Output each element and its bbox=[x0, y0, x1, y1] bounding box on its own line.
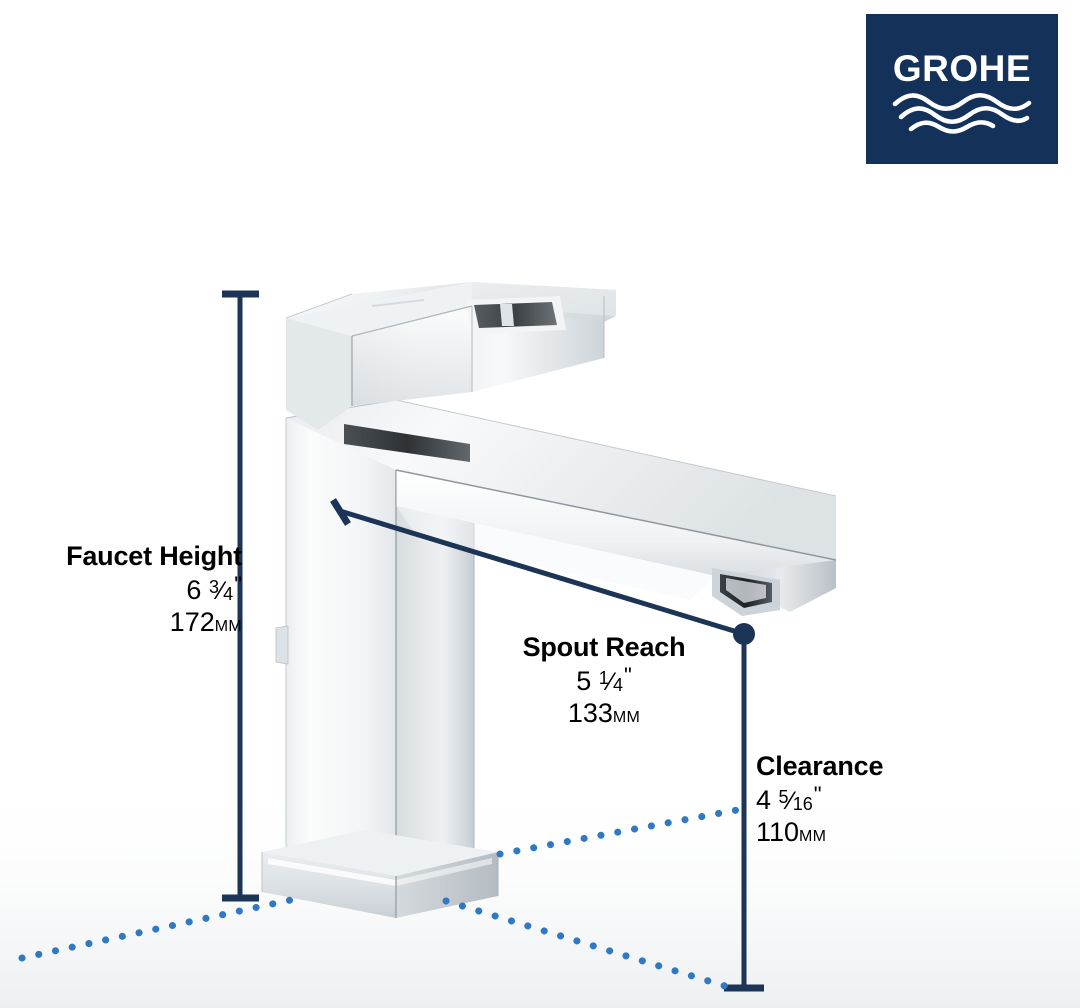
spout-clearance-junction-dot bbox=[733, 623, 755, 645]
counter-guide-lower-right bbox=[446, 901, 738, 990]
spout-reach-title: Spout Reach bbox=[498, 633, 710, 662]
callout-faucet-height: Faucet Height 6 3⁄4" 172MM bbox=[14, 542, 242, 637]
callout-clearance: Clearance 4 5⁄16" 110MM bbox=[756, 752, 986, 847]
spout-reach-metric: 133MM bbox=[498, 699, 710, 728]
clearance-metric: 110MM bbox=[756, 818, 986, 847]
counter-guide-left bbox=[22, 898, 300, 958]
faucet-height-imperial: 6 3⁄4" bbox=[14, 576, 242, 605]
spout-reach-imperial: 5 1⁄4" bbox=[498, 667, 710, 696]
faucet-height-title: Faucet Height bbox=[14, 542, 242, 571]
grohe-logo: GROHE bbox=[866, 14, 1058, 164]
faucet-dimension-diagram: GROHE Faucet Height 6 3⁄4" 172MM Spout R… bbox=[0, 0, 1080, 1008]
grohe-waves-icon bbox=[891, 91, 1033, 135]
grohe-wordmark: GROHE bbox=[893, 50, 1031, 87]
faucet-height-metric: 172MM bbox=[14, 608, 242, 637]
callout-spout-reach: Spout Reach 5 1⁄4" 133MM bbox=[498, 633, 710, 728]
clearance-imperial: 4 5⁄16" bbox=[756, 786, 986, 815]
clearance-title: Clearance bbox=[756, 752, 986, 781]
spout-reach-dimension-line bbox=[340, 511, 744, 634]
counter-guide-upper-right bbox=[500, 808, 748, 854]
